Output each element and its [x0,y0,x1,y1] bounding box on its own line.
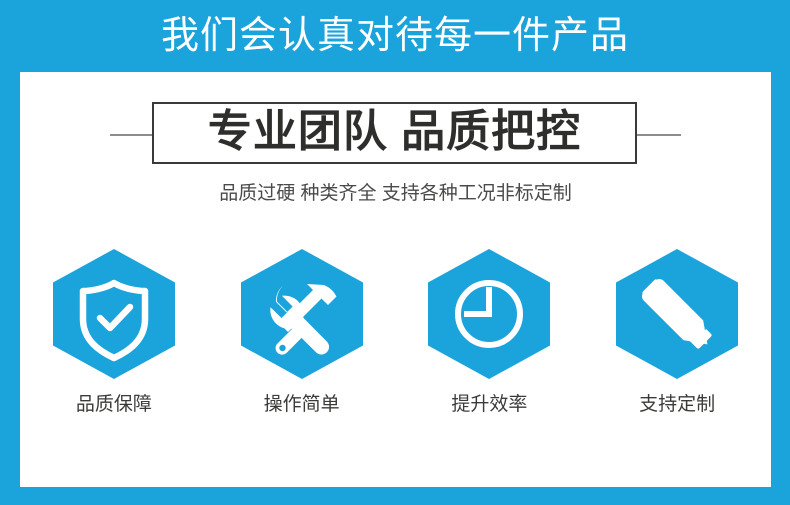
header-band: 我们会认真对待每一件产品 [0,0,790,72]
feature-item-efficiency[interactable]: 提升效率 [414,247,564,414]
section-heading: 专业团队 品质把控 [20,102,771,168]
wrench-hammer-icon [238,247,366,381]
clock-icon [425,247,553,381]
heading-rule-right [637,134,681,136]
feature-label: 提升效率 [451,395,527,414]
shield-check-icon [50,247,178,381]
section-subtitle: 品质过硬 种类齐全 支持各种工况非标定制 [20,184,771,203]
ruler-pen-icon [613,247,741,381]
header-title: 我们会认真对待每一件产品 [161,17,629,55]
promo-banner: 我们会认真对待每一件产品 专业团队 品质把控 品质过硬 种类齐全 支持各种工况非… [0,0,790,505]
feature-label: 操作简单 [264,395,340,414]
content-panel: 专业团队 品质把控 品质过硬 种类齐全 支持各种工况非标定制 品质保障 [20,72,771,487]
heading-rule-left [110,134,154,136]
section-title: 专业团队 品质把控 [208,110,581,154]
feature-item-customization[interactable]: 支持定制 [602,247,752,414]
feature-item-easy-operation[interactable]: 操作简单 [227,247,377,414]
feature-list: 品质保障 操作简单 [20,247,771,414]
feature-item-quality[interactable]: 品质保障 [39,247,189,414]
section-title-box: 专业团队 品质把控 [152,102,637,164]
feature-label: 品质保障 [76,395,152,414]
feature-label: 支持定制 [639,395,715,414]
